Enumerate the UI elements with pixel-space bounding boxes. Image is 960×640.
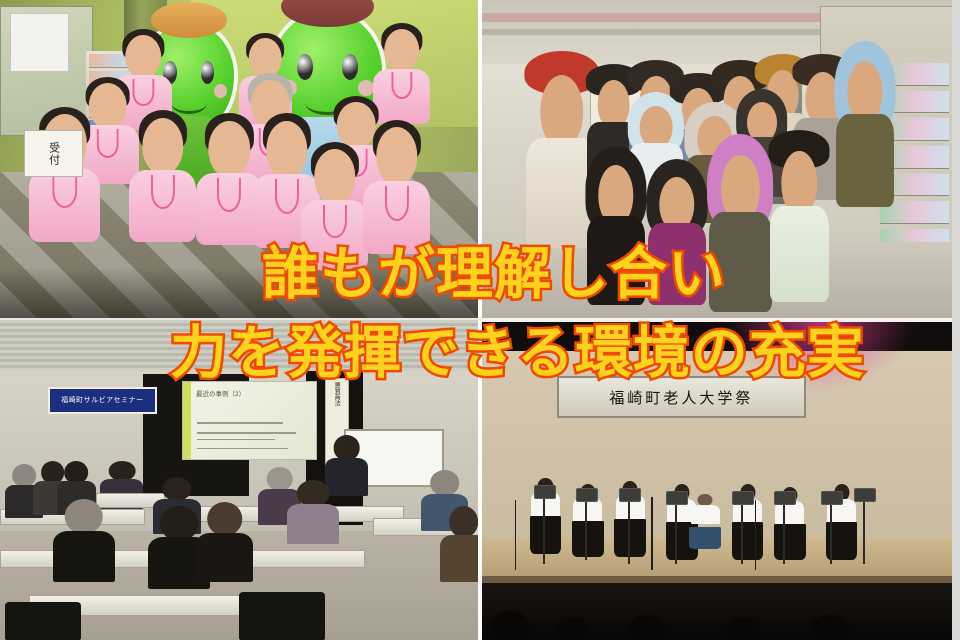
audience-head xyxy=(491,611,529,640)
audience-head xyxy=(726,618,759,640)
stage-banner-label: 福崎町老人大学祭 xyxy=(609,387,753,408)
music-stand xyxy=(585,497,587,561)
mascot-hat-icon xyxy=(151,2,227,38)
photo-collage: 受付 xyxy=(0,0,960,640)
chair xyxy=(239,592,325,640)
attendee xyxy=(440,506,478,583)
music-stand xyxy=(543,494,545,564)
chair xyxy=(5,602,81,640)
music-stand xyxy=(830,500,832,564)
volunteer-person xyxy=(363,127,430,254)
volunteer-person xyxy=(129,118,196,242)
audience-head xyxy=(628,615,666,640)
person-hijab xyxy=(835,41,896,206)
attendee xyxy=(53,499,115,582)
microphone-stand xyxy=(651,497,653,570)
poster xyxy=(10,13,69,72)
audience-area xyxy=(482,583,952,640)
mascot-eye-icon xyxy=(297,54,313,81)
seminar-banner: 福崎町サルビアセミナー xyxy=(48,387,157,413)
person-apron xyxy=(769,130,830,302)
mascot-cheek xyxy=(358,80,373,96)
music-stand xyxy=(863,497,865,564)
right-edge-strip xyxy=(952,0,960,640)
seminar-banner-label: 福崎町サルビアセミナー xyxy=(61,395,143,405)
seated-performer xyxy=(689,494,722,551)
overlay-caption-line-1: 誰もが理解し合い xyxy=(262,246,726,303)
music-stand xyxy=(741,500,743,564)
projector-screen: 最近の事例（2） xyxy=(182,381,318,460)
music-stand xyxy=(628,497,630,564)
mascot-eye-icon xyxy=(201,61,215,84)
microphone-stand xyxy=(515,500,517,570)
mascot-eye-icon xyxy=(342,54,358,81)
volunteer-person xyxy=(373,29,430,124)
attendee xyxy=(196,502,253,582)
audience-head xyxy=(811,615,849,640)
microphone-stand xyxy=(755,500,757,570)
reception-sign: 受付 xyxy=(24,130,83,177)
overlay-caption-line-2: 力を発揮できる環境の充実 xyxy=(170,325,865,382)
reception-sign-label: 受付 xyxy=(46,142,62,166)
music-stand xyxy=(783,500,785,564)
attendee xyxy=(287,480,340,544)
audience-head xyxy=(557,618,590,640)
mascot-mouth-icon xyxy=(171,93,207,115)
slide-title: 最近の事例（2） xyxy=(196,388,245,398)
music-stand xyxy=(675,500,677,564)
slide-accent-bar xyxy=(183,382,191,459)
mascot-cheek xyxy=(214,84,227,98)
mascot-hat-icon xyxy=(281,0,373,27)
